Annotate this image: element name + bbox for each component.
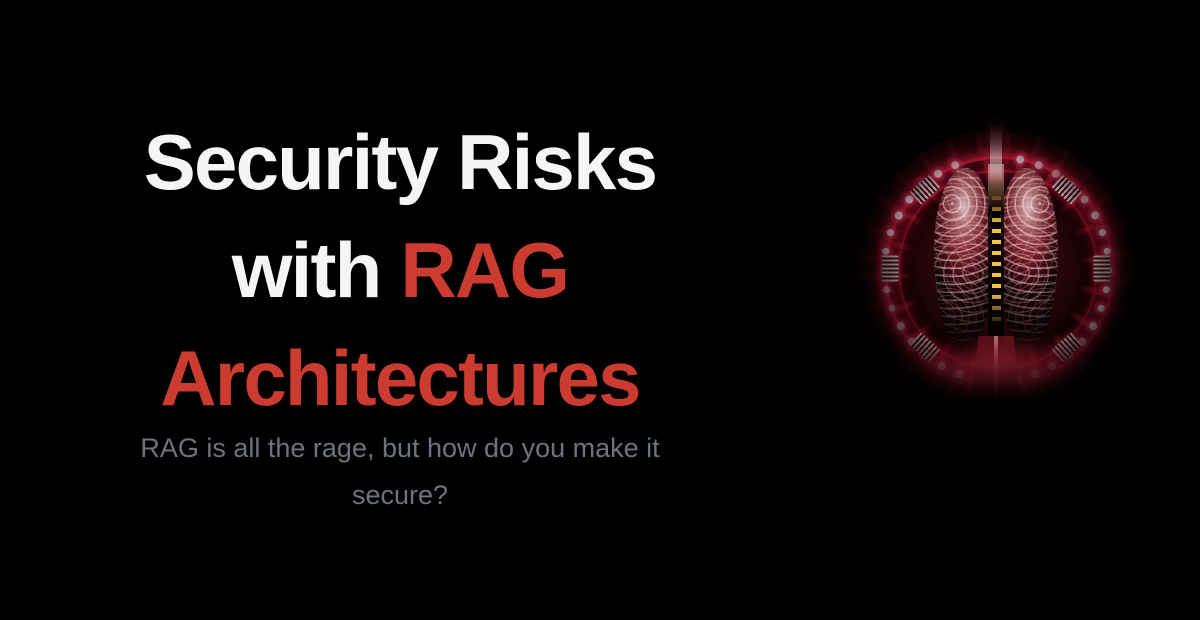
brain-lobe-right [998, 168, 1058, 344]
ring-led-dot [1099, 229, 1107, 237]
ring-led-dot [905, 195, 913, 203]
red-mist [840, 326, 1152, 422]
ring-led-dot [1091, 211, 1099, 219]
ring-led-dot [1080, 195, 1088, 203]
brain-circuit-texture [934, 168, 994, 344]
page-subtitle: RAG is all the rage, but how do you make… [0, 425, 800, 519]
headline-line-2: with RAG [0, 216, 800, 324]
golden-core-lights [992, 196, 1001, 328]
headline-line-1: Security Risks [0, 108, 800, 216]
headline-line-2-plain: with [232, 226, 401, 314]
mechanical-brain [934, 168, 1058, 344]
hero-text-column: Security Risks with RAG Architectures RA… [0, 0, 800, 620]
ring-greeble-block [882, 255, 899, 281]
ring-led-dot [883, 286, 890, 293]
headline-line-3: Architectures [0, 324, 800, 432]
brain-lobe-left [934, 168, 994, 344]
ring-led-dot [886, 229, 894, 237]
ring-led-dot [888, 304, 896, 312]
ring-greeble-block [1094, 255, 1111, 281]
ring-led-dot [1097, 304, 1105, 312]
brain-circuit-texture [998, 168, 1058, 344]
headline-line-2-accent: RAG [400, 226, 568, 314]
ring-led-dot [894, 211, 902, 219]
artwork-stage [850, 112, 1142, 424]
cyber-brain-illustration [850, 112, 1142, 424]
page-title: Security Risks with RAG Architectures [0, 108, 800, 432]
ring-led-dot [882, 247, 889, 254]
hero-banner: Security Risks with RAG Architectures RA… [0, 0, 1200, 620]
ring-led-dot [1016, 155, 1025, 164]
